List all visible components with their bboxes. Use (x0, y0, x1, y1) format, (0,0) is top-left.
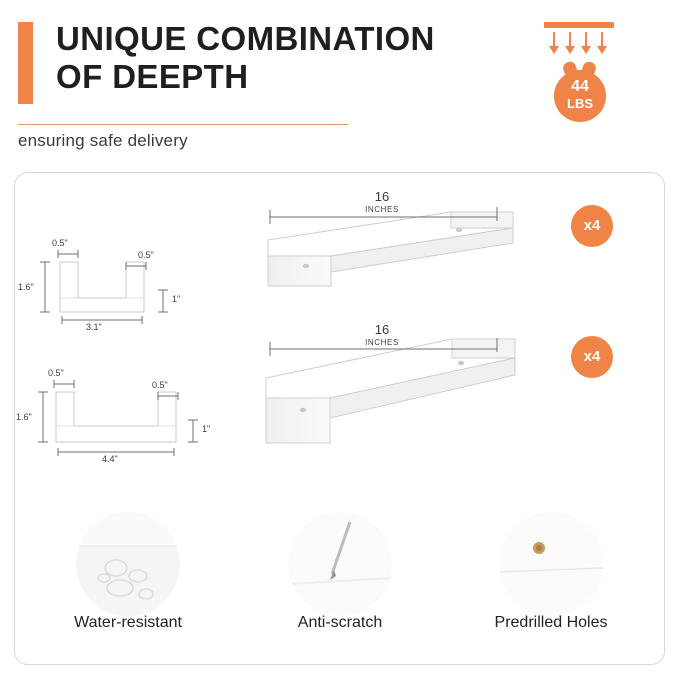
title-divider (18, 124, 348, 125)
feature-water-resistant (76, 512, 180, 616)
shelf2-length-value: 16 (352, 322, 412, 337)
shelf1-length-value: 16 (352, 189, 412, 204)
weight-value: 44 (571, 78, 589, 95)
shelf1-quantity-badge: x4 (571, 205, 613, 247)
feature-predrilled-holes (499, 512, 603, 616)
page-title: UNIQUE COMBINATION OF DEEPTH (56, 20, 526, 96)
shelf2-length-unit: INCHES (352, 338, 412, 347)
xsec2-thickness: 1" (202, 424, 210, 434)
shelf1-length-unit: INCHES (352, 205, 412, 214)
xsec1-depth: 3.1" (86, 322, 102, 332)
feature-label-water-resistant: Water-resistant (18, 614, 238, 632)
xsec1-thickness: 1" (172, 294, 180, 304)
xsec2-lip-left: 0.5" (48, 368, 64, 378)
accent-bar (18, 22, 33, 104)
ceiling-bar-icon (544, 22, 614, 28)
xsec1-lip-left: 0.5" (52, 238, 68, 248)
subtitle: ensuring safe delivery (18, 131, 188, 151)
feature-label-anti-scratch: Anti-scratch (230, 614, 450, 632)
feature-anti-scratch (288, 512, 392, 616)
title-line-1: UNIQUE COMBINATION (56, 20, 435, 57)
title-line-2: OF DEEPTH (56, 58, 526, 96)
xsec2-depth: 4.4" (102, 454, 118, 464)
shelf2-quantity-badge: x4 (571, 336, 613, 378)
weight-capacity-badge: 44 LBS (554, 70, 606, 122)
xsec1-lip-right: 0.5" (138, 250, 154, 260)
weight-unit: LBS (554, 95, 606, 112)
xsec1-height: 1.6" (18, 282, 34, 292)
xsec2-lip-right: 0.5" (152, 380, 168, 390)
weight-badge: 44 LBS (540, 22, 618, 122)
xsec2-height: 1.6" (16, 412, 32, 422)
feature-label-predrilled-holes: Predrilled Holes (441, 614, 661, 632)
header: UNIQUE COMBINATION OF DEEPTH ensuring sa… (0, 0, 679, 168)
